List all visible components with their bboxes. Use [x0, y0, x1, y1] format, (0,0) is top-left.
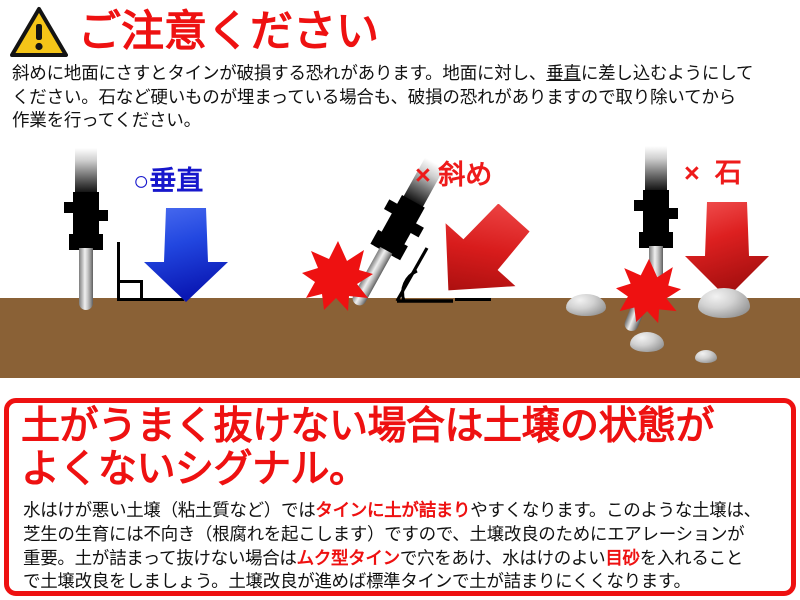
header-line1-underline: 垂直 — [546, 63, 581, 83]
header-line1-post: に差し込むようにして — [581, 63, 753, 83]
tine-tab-right — [97, 210, 108, 221]
red-down-arrow — [683, 200, 771, 300]
red-diagonal-arrow — [428, 204, 536, 308]
illustration-strip: ○垂直 — [0, 138, 800, 378]
panel-vertical-ok: ○垂直 — [0, 138, 280, 378]
header-body-text: 斜めに地面にさすとタインが破損する恐れがあります。地面に対し、垂直に差し込むよう… — [12, 62, 796, 133]
header-line1-pre: 斜めに地面にさすとタインが破損する恐れがあります。地面に対し、 — [12, 63, 546, 83]
notice-body-line-4: で土壌改良をしましょう。土壌改良が進めば標準タインで土が詰まりにくくなります。 — [23, 570, 789, 594]
cross-mark-icon-stone: × — [684, 158, 700, 188]
circle-mark-icon: ○ — [133, 166, 149, 196]
notice-heading-line-1: 土がうまく抜けない場合は土壌の状態が — [21, 405, 791, 448]
tine-tab-right-stone — [667, 208, 678, 219]
header-body-line-1: 斜めに地面にさすとタインが破損する恐れがあります。地面に対し、垂直に差し込むよう… — [12, 62, 796, 86]
panel-stone-ng: × 石 — [560, 138, 800, 378]
label-slanted-text: 斜め — [438, 160, 492, 190]
notice-l3-s5: を入れること — [640, 548, 743, 568]
notice-box: 土がうまく抜けない場合は土壌の状態が よくないシグナル。 水はけが悪い土壌（粘土… — [4, 398, 796, 596]
notice-body-line-2: 芝生の生育には不向き（根腐れを起こします）ですので、土壌改良のためにエアレーショ… — [23, 523, 789, 547]
warning-triangle-icon — [10, 6, 68, 58]
panel-slanted-ng: × 斜め — [280, 138, 560, 378]
notice-l1-highlight: タインに土が詰まり — [315, 500, 470, 520]
notice-body-line-1: 水はけが悪い土壌（粘土質など）ではタインに土が詰まりやすくなります。このような土… — [23, 499, 789, 523]
cross-mark-icon-slanted: × — [415, 160, 431, 190]
header-body-line-2: ください。石など硬いものが埋まっている場合も、破損の恐れがありますので取り除いて… — [12, 86, 796, 110]
tine-tab-left-stone — [634, 200, 645, 211]
tine-handle-gradient-stone — [645, 146, 667, 194]
notice-l3-s1: 重要。土が詰まって抜けない場合は — [23, 548, 297, 568]
break-burst-icon-slanted — [302, 240, 374, 312]
header-title-row: ご注意ください — [10, 6, 379, 58]
notice-body-line-3: 重要。土が詰まって抜けない場合はムク型タインで穴をあけ、水はけのよい目砂を入れる… — [23, 547, 789, 571]
tine-shaft — [79, 248, 93, 310]
notice-l1-s3: やすくなります。このような土壌は、 — [470, 500, 761, 520]
tine-tab-left — [64, 202, 75, 213]
blue-down-arrow — [142, 206, 230, 304]
stone-large-center — [698, 288, 750, 318]
break-burst-icon-stone — [616, 258, 682, 324]
label-stone-ng: × 石 — [684, 160, 742, 187]
notice-heading-line-2: よくないシグナル。 — [21, 448, 791, 491]
right-angle-vertical-line — [117, 242, 120, 301]
tine-handle-gradient — [75, 148, 97, 196]
stone-small-right — [695, 350, 717, 363]
page-title: ご注意ください — [78, 11, 379, 54]
label-vertical-ok: ○垂直 — [133, 168, 203, 195]
label-vertical-text: 垂直 — [149, 166, 203, 196]
stone-left-edge — [566, 294, 606, 316]
notice-body: 水はけが悪い土壌（粘土質など）ではタインに土が詰まりやすくなります。このような土… — [23, 499, 789, 594]
notice-heading: 土がうまく抜けない場合は土壌の状態が よくないシグナル。 — [21, 405, 791, 491]
right-angle-square-horizontal — [117, 280, 143, 283]
notice-l1-s1: 水はけが悪い土壌（粘土質など）では — [23, 500, 315, 520]
notice-l3-s3: で穴をあけ、水はけのよい — [400, 548, 606, 568]
tine-assembly-vertical — [64, 148, 108, 310]
header-body-line-3: 作業を行ってください。 — [12, 109, 796, 133]
notice-l3-highlight-1: ムク型タイン — [297, 548, 400, 568]
tine-assembly-stone — [634, 146, 678, 276]
label-slanted-ng: × 斜め — [415, 162, 492, 189]
stone-buried-mid — [630, 332, 664, 352]
label-stone-text: 石 — [715, 158, 742, 188]
notice-l3-highlight-2: 目砂 — [605, 548, 639, 568]
notice-page: ご注意ください 斜めに地面にさすとタインが破損する恐れがあります。地面に対し、垂… — [0, 0, 800, 600]
header-section: ご注意ください 斜めに地面にさすとタインが破損する恐れがあります。地面に対し、垂… — [0, 0, 800, 138]
